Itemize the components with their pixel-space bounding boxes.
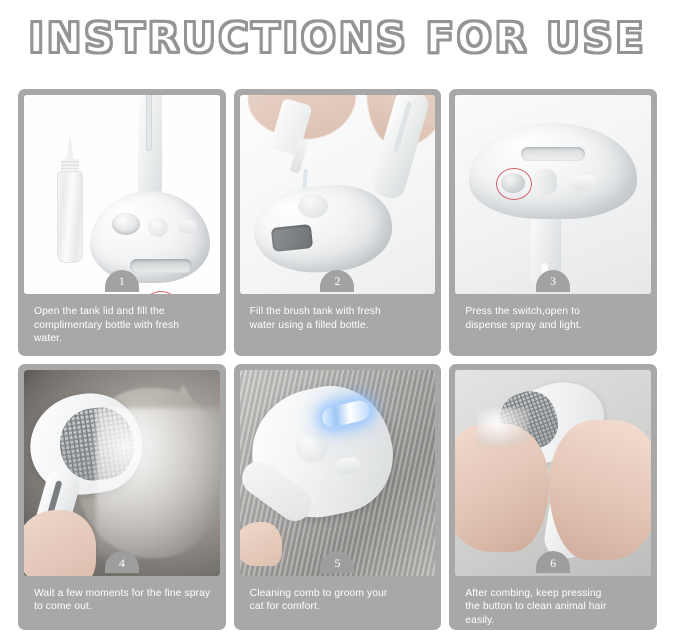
step-2-illustration	[240, 95, 436, 294]
step-4-illustration	[24, 370, 220, 576]
brush-button-icon	[178, 220, 196, 233]
holding-hand-icon	[24, 510, 96, 576]
caption-line: easily.	[465, 614, 643, 628]
page-title: INSTRUCTIONS FOR USE	[29, 14, 647, 62]
dropper-bottle-icon	[56, 133, 84, 263]
step-3-illustration	[455, 95, 651, 294]
step-3-caption: Press the switch,open to dispense spray …	[449, 294, 657, 356]
step-2-caption: Fill the brush tank with fresh water usi…	[234, 294, 442, 356]
tank-lid-icon	[112, 213, 140, 235]
brush-knob-icon	[148, 217, 168, 237]
step-5-caption: Cleaning comb to groom your cat for comf…	[234, 576, 442, 631]
caption-line: Open the tank lid and fill the	[34, 305, 212, 319]
step-6-illustration	[455, 370, 651, 576]
water-window-icon	[271, 224, 313, 252]
instruction-steps-grid: 1 Open the tank lid and fill the complim…	[18, 89, 657, 630]
step-panel-1: 1 Open the tank lid and fill the complim…	[18, 89, 226, 356]
step-panel-3: 3 Press the switch,open to dispense spra…	[449, 89, 657, 356]
step-1-caption: Open the tank lid and fill the complimen…	[18, 294, 226, 356]
caption-line: water.	[34, 332, 212, 346]
step-panel-2: 2 Fill the brush tank with fresh water u…	[234, 89, 442, 356]
brush-button-icon[interactable]	[571, 175, 597, 191]
caption-line: Wait a few moments for the fine	[34, 588, 182, 599]
collected-hair-icon	[477, 408, 529, 446]
tank-fill-port-icon	[298, 194, 328, 218]
water-mist-icon	[96, 408, 220, 558]
caption-line: cat for comfort.	[250, 600, 428, 614]
page-header: INSTRUCTIONS FOR USE	[0, 0, 675, 75]
caption-line: Press the switch,open to	[465, 305, 643, 319]
caption-line: Fill the brush tank with fresh	[250, 305, 428, 319]
step-panel-5: 5 Cleaning comb to groom your cat for co…	[234, 364, 442, 631]
caption-line: water using a filled bottle.	[250, 319, 428, 333]
bottle-body-icon	[57, 171, 83, 263]
caption-line: After combing, keep pressing	[465, 587, 643, 601]
water-window-icon	[130, 259, 192, 273]
step-1-illustration	[24, 95, 220, 294]
caption-line: the button to clean animal hair	[465, 600, 643, 614]
step-6-caption: After combing, keep pressing the button …	[449, 576, 657, 631]
step-panel-6: 6 After combing, keep pressing the butto…	[449, 364, 657, 631]
water-window-icon	[521, 147, 585, 161]
brush-knob-icon	[533, 169, 557, 195]
caption-line: complimentary bottle with fresh	[34, 319, 212, 333]
step-panel-4: 4 Wait a few moments for the fine spray …	[18, 364, 226, 631]
step-4-caption: Wait a few moments for the fine spray to…	[18, 576, 226, 631]
brush-knob-icon	[296, 432, 328, 462]
brush-stem-slot-icon	[146, 95, 152, 151]
holding-hand-icon	[240, 522, 282, 566]
pet-brush-device-icon	[86, 95, 214, 289]
step-5-illustration	[240, 370, 436, 576]
right-hand-icon	[549, 420, 651, 560]
caption-line: dispense spray and light.	[465, 319, 643, 333]
caption-line: Cleaning comb to groom your	[250, 587, 428, 601]
